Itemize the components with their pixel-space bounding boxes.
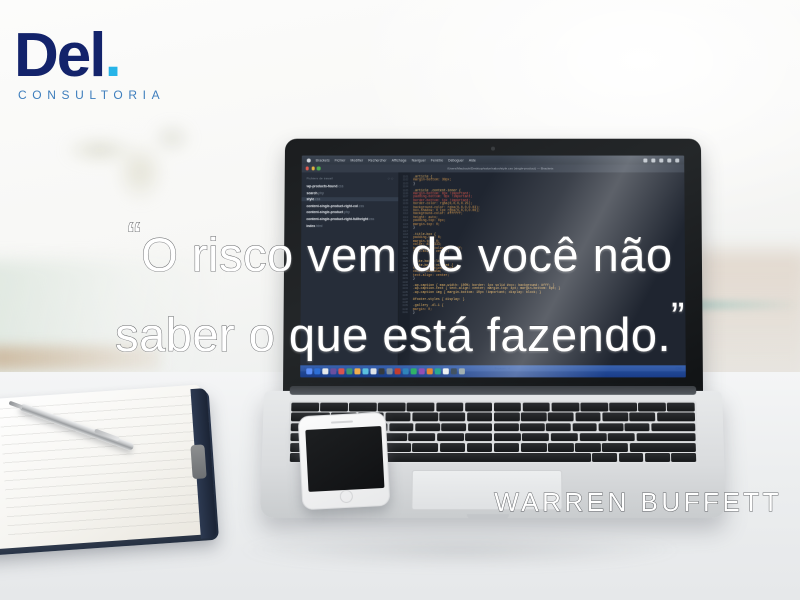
keyboard-key[interactable] [467, 443, 493, 452]
dock-icon-itunes[interactable] [330, 368, 336, 374]
keyboard-key[interactable] [415, 423, 440, 432]
phone-speaker [331, 420, 353, 424]
menu-item-6[interactable]: Fenêtre [431, 158, 443, 162]
keyboard-key[interactable] [494, 403, 521, 412]
dock-icon-maps[interactable] [370, 368, 376, 374]
brand-logo: Del. CONSULTORIA [14, 26, 214, 102]
close-icon[interactable] [306, 167, 309, 170]
brand-dot: . [104, 21, 119, 90]
keyboard-key[interactable] [320, 403, 348, 412]
keyboard-key[interactable] [468, 423, 493, 432]
keyboard-key[interactable] [580, 403, 607, 412]
keyboard-key[interactable] [465, 403, 492, 412]
bluetooth-icon[interactable] [643, 158, 647, 162]
dock-icon-calendar[interactable] [362, 368, 368, 374]
dock-icon-trash[interactable] [459, 368, 465, 374]
phone-screen[interactable] [305, 426, 384, 492]
keyboard-key[interactable] [619, 453, 644, 462]
keyboard-key[interactable] [599, 423, 624, 432]
quote-block: “O risco vem de você não saber o que est… [0, 206, 800, 366]
battery-icon[interactable] [659, 158, 663, 162]
sidebar-header: Fichiers de travail ◇◇ [307, 176, 395, 180]
keyboard-key[interactable] [412, 443, 438, 452]
keyboard-key[interactable] [436, 403, 463, 412]
wifi-icon[interactable] [651, 158, 655, 162]
keyboard-key[interactable] [369, 453, 591, 462]
keyboard-key[interactable] [349, 403, 376, 412]
quote-line-2-text: saber o que está fazendo. [115, 308, 671, 361]
dock-icon-messages[interactable] [346, 368, 352, 374]
keyboard-key[interactable] [625, 423, 650, 432]
clock-icon[interactable] [667, 158, 671, 162]
dock-icon-photos[interactable] [338, 368, 344, 374]
dock-icon-pages[interactable] [427, 368, 433, 374]
menu-item-2[interactable]: Modifier [350, 158, 363, 162]
menu-item-3[interactable]: Rechercher [368, 158, 386, 162]
keyboard-key[interactable] [437, 433, 464, 442]
window-controls[interactable] [306, 167, 321, 170]
keyboard-key[interactable] [645, 453, 670, 462]
maximize-icon[interactable] [317, 167, 320, 170]
keyboard-key[interactable] [408, 433, 435, 442]
dock-icon-terminal[interactable] [379, 368, 385, 374]
keyboard-key[interactable] [467, 413, 493, 422]
keyboard-key[interactable] [407, 403, 434, 412]
window-title: /Users/Macbook/Desktop/salon/salon/style… [447, 166, 553, 170]
keyboard-key[interactable] [546, 423, 571, 432]
keyboard-key[interactable] [385, 443, 411, 452]
keyboard-key[interactable] [667, 403, 695, 412]
sidebar-header-icons[interactable]: ◇◇ [388, 176, 395, 180]
macos-dock[interactable] [300, 365, 686, 377]
file-item[interactable]: wp-products-found.css [307, 184, 395, 188]
keyboard-key[interactable] [521, 413, 547, 422]
file-name: style [306, 197, 314, 201]
dock-icon-appstore[interactable] [443, 368, 449, 374]
keyboard-key[interactable] [494, 443, 520, 452]
file-item-selected[interactable]: style.css [301, 197, 398, 201]
dock-icon-finder-alt[interactable] [411, 368, 417, 374]
keyboard-key[interactable] [609, 403, 636, 412]
file-name: search [307, 191, 318, 195]
quote-line-1-text: O risco vem de você não [141, 228, 672, 281]
keyboard-key[interactable] [651, 423, 696, 432]
dock-icon-preview[interactable] [387, 368, 393, 374]
dock-icon-numbers[interactable] [435, 368, 441, 374]
keyboard-key[interactable] [671, 453, 696, 462]
keyboard-key[interactable] [552, 403, 579, 412]
brand-name: Del. [14, 26, 214, 86]
quote-author: WARREN BUFFETT [494, 487, 782, 518]
quote-line-2: saber o que está fazendo.” [0, 286, 800, 366]
keyboard-key[interactable] [439, 413, 465, 422]
keyboard-key[interactable] [602, 443, 628, 452]
keyboard-key[interactable] [521, 443, 547, 452]
keyboard-key[interactable] [440, 443, 466, 452]
keyboard-key[interactable] [629, 443, 696, 452]
keyboard-key[interactable] [520, 423, 545, 432]
os-menu-bar[interactable]: Brackets Fichier Modifier Rechercher Aff… [302, 156, 684, 165]
dock-icon-brackets[interactable] [395, 368, 401, 374]
menu-item-4[interactable]: Affichage [392, 158, 407, 162]
file-ext: .php [317, 191, 324, 195]
keyboard-key[interactable] [608, 433, 635, 442]
spotlight-icon[interactable] [675, 158, 679, 162]
keyboard-key[interactable] [592, 453, 617, 462]
keyboard-key[interactable] [602, 413, 628, 422]
notebook-pen-loop [190, 444, 206, 479]
keyboard-key[interactable] [389, 423, 414, 432]
dock-icon-keynote[interactable] [419, 368, 425, 374]
dock-icon-safari[interactable] [322, 368, 328, 374]
notebook [0, 383, 225, 560]
window-title-bar: /Users/Macbook/Desktop/salon/salon/style… [302, 164, 685, 172]
keyboard-key[interactable] [575, 413, 601, 422]
keyboard-key[interactable] [579, 433, 606, 442]
keyboard-key[interactable] [291, 403, 319, 412]
keyboard-key[interactable] [385, 413, 411, 422]
file-name: wp-products-found [307, 184, 338, 188]
keyboard-key[interactable] [638, 403, 666, 412]
brand-name-text: Del [14, 21, 104, 90]
keyboard-key[interactable] [551, 433, 578, 442]
keyboard-key[interactable] [572, 423, 597, 432]
dock-icon-finder[interactable] [306, 368, 312, 374]
keyboard-key[interactable] [548, 443, 574, 452]
phone-home-button-icon[interactable] [339, 490, 353, 504]
menu-item-0[interactable]: Brackets [316, 158, 330, 162]
keyboard-key[interactable] [657, 413, 696, 422]
file-ext: .css [337, 184, 343, 188]
keyboard-row [291, 403, 695, 412]
keyboard-key[interactable] [575, 443, 601, 452]
keyboard-key[interactable] [523, 403, 550, 412]
minimize-icon[interactable] [311, 167, 314, 170]
menu-item-5[interactable]: Naviguer [412, 158, 426, 162]
file-item[interactable]: search.php [307, 191, 395, 195]
menu-bar-status-icons[interactable] [643, 158, 679, 162]
brand-tagline: CONSULTORIA [14, 88, 214, 102]
keyboard-key[interactable] [636, 433, 695, 442]
dock-icon-chrome[interactable] [403, 368, 409, 374]
menu-item-7[interactable]: Déboguer [448, 158, 464, 162]
keyboard-key[interactable] [548, 413, 574, 422]
notebook-ruled-lines [0, 394, 216, 540]
keyboard-key[interactable] [412, 413, 438, 422]
keyboard-key[interactable] [465, 433, 492, 442]
quote-open-mark: “ [127, 215, 141, 259]
promo-image-canvas: Brackets Fichier Modifier Rechercher Aff… [0, 0, 800, 600]
apple-logo-icon[interactable] [307, 158, 311, 162]
keyboard-key[interactable] [629, 413, 655, 422]
dock-icon-settings[interactable] [451, 368, 457, 374]
quote-line-1: “O risco vem de você não [0, 206, 800, 286]
keyboard-key[interactable] [494, 423, 519, 432]
dock-icon-mail[interactable] [314, 368, 320, 374]
quote-close-mark: ” [671, 295, 685, 339]
keyboard-key[interactable] [378, 403, 405, 412]
menu-item-8[interactable]: Aide [469, 158, 476, 162]
keyboard-key[interactable] [441, 423, 466, 432]
laptop-hinge [290, 386, 697, 395]
sidebar-header-label: Fichiers de travail [307, 176, 333, 180]
webcam-icon [491, 147, 495, 151]
keyboard-key[interactable] [522, 433, 549, 442]
keyboard-key[interactable] [494, 413, 520, 422]
file-ext: .css [314, 197, 320, 201]
dock-icon-notes[interactable] [354, 368, 360, 374]
keyboard-key[interactable] [494, 433, 521, 442]
smartphone[interactable] [298, 412, 391, 510]
menu-item-1[interactable]: Fichier [335, 158, 346, 162]
